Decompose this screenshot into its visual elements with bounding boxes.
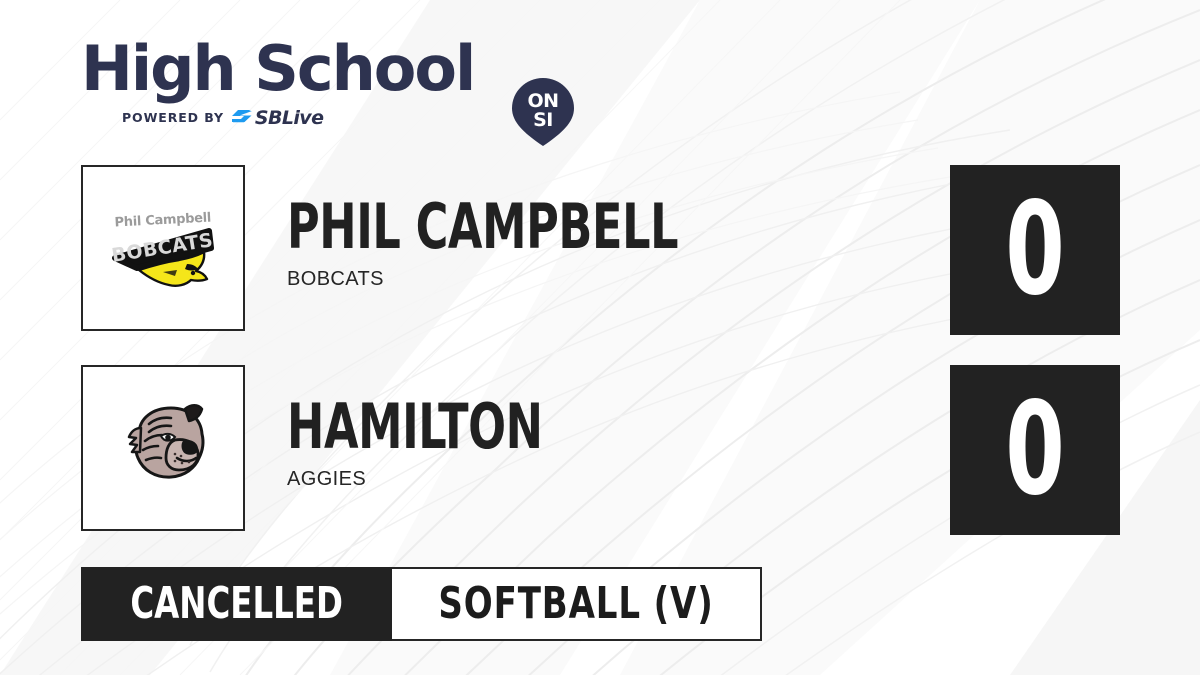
sblive-logo: SBLive (231, 108, 323, 128)
svg-text:SI: SI (533, 109, 553, 131)
team-name: PHIL CAMPBELL (287, 195, 799, 259)
team-row: Phil Campbell BOBCATS PHIL CAMPBELL BOBC… (81, 165, 1121, 335)
team-score: 0 (1005, 186, 1064, 314)
team-mascot: AGGIES (287, 468, 927, 491)
brand-wordmark: High School (81, 38, 474, 100)
team-row: HAMILTON AGGIES 0 (81, 365, 1121, 535)
status-bar: CANCELLED SOFTBALL (V) (81, 567, 762, 641)
sblive-s-mark-icon (231, 109, 253, 127)
team-info: HAMILTON AGGIES (287, 395, 927, 491)
team-score: 0 (1005, 386, 1064, 514)
powered-by-label: POWERED BY (122, 108, 224, 128)
team-logo-box: Phil Campbell BOBCATS (81, 165, 245, 331)
team-mascot: BOBCATS (287, 268, 927, 291)
sblive-wordmark: SBLive (255, 108, 323, 128)
sport-label: SOFTBALL (V) (439, 581, 714, 627)
svg-text:Phil Campbell: Phil Campbell (114, 210, 211, 230)
team-logo-box (81, 365, 245, 531)
team-score-box: 0 (950, 365, 1120, 535)
sport-badge: SOFTBALL (V) (392, 567, 762, 641)
on-si-pin-icon: ON SI (508, 76, 578, 148)
team-name: HAMILTON (287, 395, 799, 459)
bobcat-logo: Phil Campbell BOBCATS (101, 186, 225, 310)
team-score-box: 0 (950, 165, 1120, 335)
team-info: PHIL CAMPBELL BOBCATS (287, 195, 927, 291)
game-status-label: CANCELLED (130, 581, 343, 627)
bulldog-logo (101, 386, 225, 510)
powered-by-row: POWERED BY SBLive (122, 108, 323, 128)
game-status-badge: CANCELLED (81, 567, 392, 641)
